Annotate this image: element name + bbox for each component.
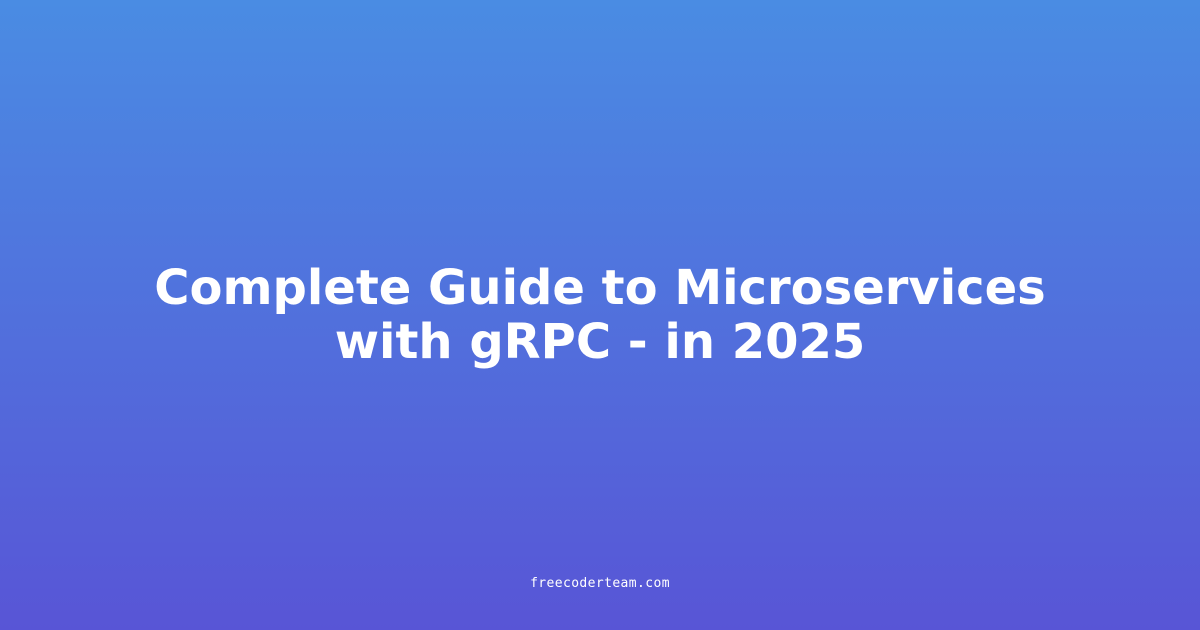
card-footer: freecoderteam.com <box>0 574 1200 592</box>
social-share-card: Complete Guide to Microservices with gRP… <box>0 0 1200 630</box>
page-title: Complete Guide to Microservices with gRP… <box>0 261 1200 369</box>
site-domain-label: freecoderteam.com <box>530 576 670 591</box>
